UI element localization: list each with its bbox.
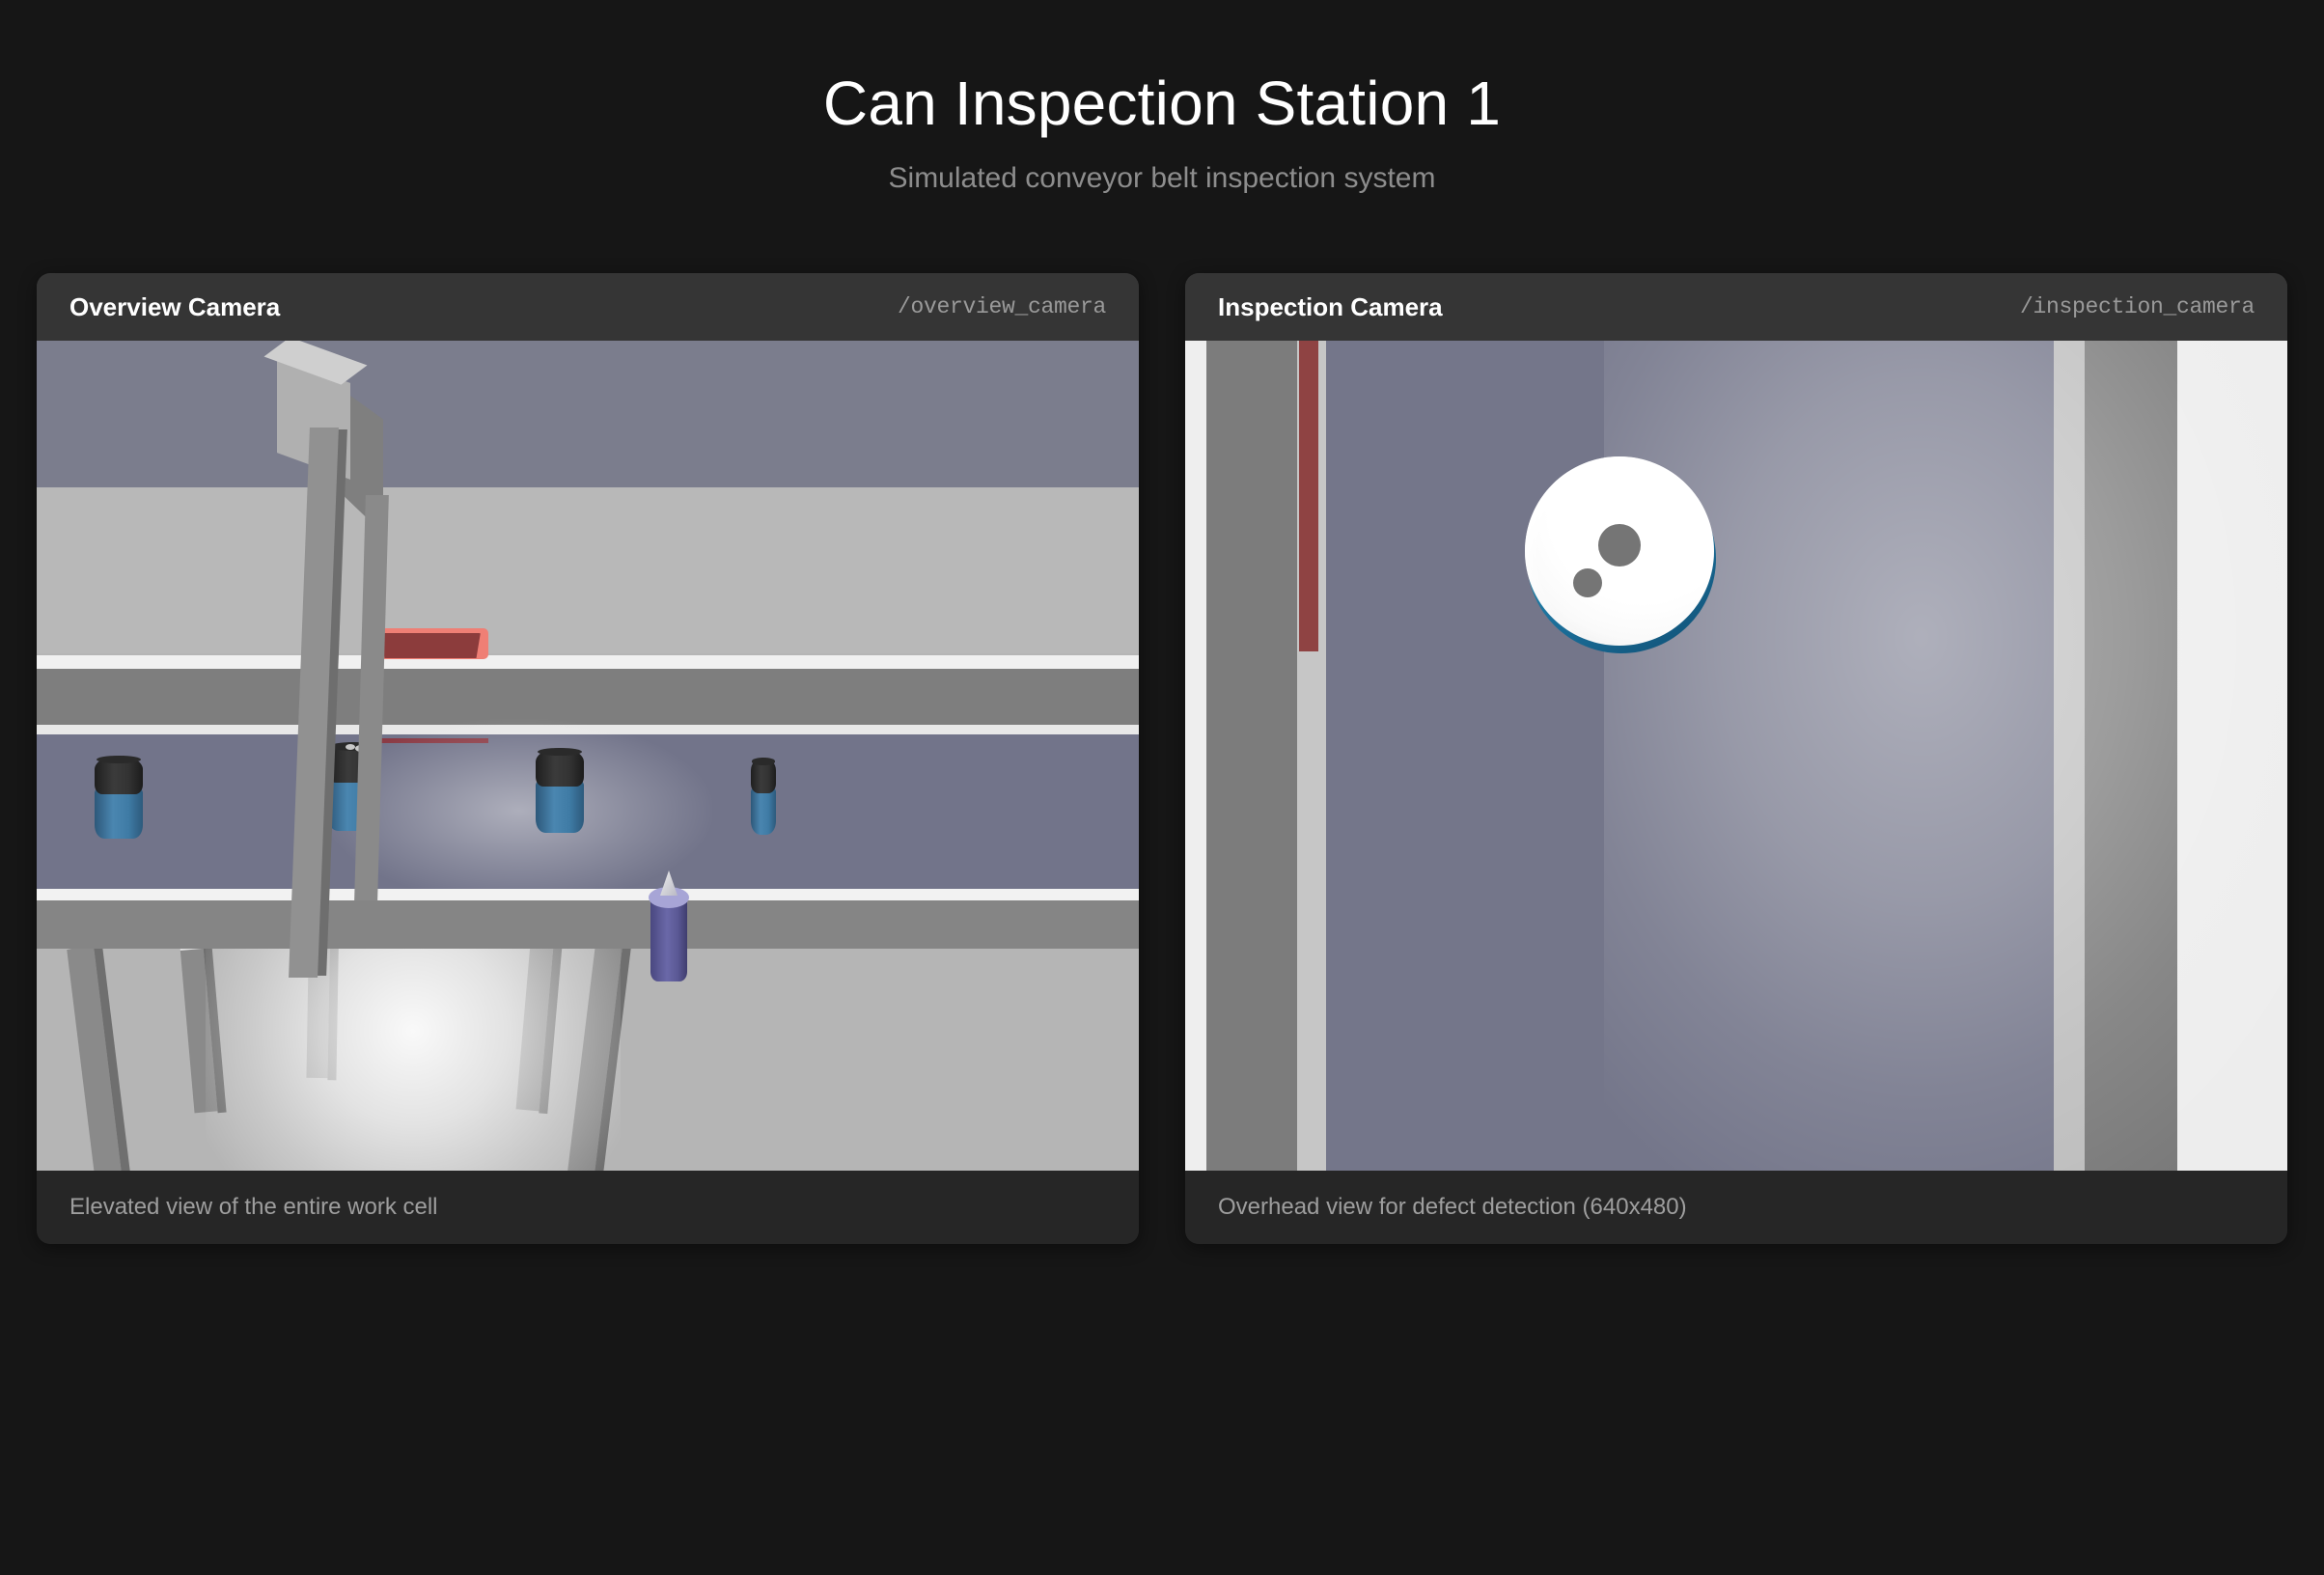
camera-caption-overview: Elevated view of the entire work cell xyxy=(69,1194,438,1221)
page-title: Can Inspection Station 1 xyxy=(0,69,2324,137)
spray-nozzle-body xyxy=(650,898,687,981)
conveyor-rail-far-highlight xyxy=(37,655,1139,669)
rejector-bar xyxy=(1299,341,1318,651)
page-header: Can Inspection Station 1 Simulated conve… xyxy=(0,0,2324,195)
app-root: Can Inspection Station 1 Simulated conve… xyxy=(0,0,2324,1575)
conveyor-rail-far-edge xyxy=(37,725,1139,734)
camera-caption-inspection: Overhead view for defect detection (640x… xyxy=(1218,1194,1687,1221)
inspection-band xyxy=(1206,341,1297,1171)
overview-scene xyxy=(37,341,1139,1171)
reject-guide-line xyxy=(374,738,488,743)
inspected-can xyxy=(1525,456,1718,649)
camera-topic-overview: /overview_camera xyxy=(898,294,1106,319)
conveyor-can xyxy=(536,748,584,833)
conveyor-can xyxy=(751,758,776,835)
inspection-band xyxy=(1185,341,1206,1171)
camera-card-header-overview: Overview Camera /overview_camera xyxy=(37,273,1139,341)
scene-back-wall xyxy=(37,341,1139,487)
camera-title-inspection: Inspection Camera xyxy=(1218,292,1443,322)
camera-viewport-overview[interactable] xyxy=(37,341,1139,1171)
inspection-scene xyxy=(1185,341,2287,1171)
inspection-band xyxy=(2054,341,2085,1171)
conveyor-rail-near-edge xyxy=(37,889,1139,900)
camera-card-header-inspection: Inspection Camera /inspection_camera xyxy=(1185,273,2287,341)
page-subtitle: Simulated conveyor belt inspection syste… xyxy=(0,162,2324,195)
camera-topic-inspection: /inspection_camera xyxy=(2020,294,2255,319)
inspection-band xyxy=(2177,341,2287,1171)
conveyor-rail-far xyxy=(37,669,1139,725)
camera-title-overview: Overview Camera xyxy=(69,292,280,322)
inspection-band xyxy=(2085,341,2177,1171)
camera-card-footer-overview: Elevated view of the entire work cell xyxy=(37,1171,1139,1244)
can-lid xyxy=(1525,456,1714,646)
camera-card-overview[interactable]: Overview Camera /overview_camera xyxy=(37,273,1139,1244)
scene-floor-far-band xyxy=(37,487,1139,653)
can-defect-spot xyxy=(1598,524,1641,566)
camera-card-inspection[interactable]: Inspection Camera /inspection_camera xyxy=(1185,273,2287,1244)
conveyor-can xyxy=(95,756,143,839)
camera-viewport-inspection[interactable] xyxy=(1185,341,2287,1171)
camera-grid: Overview Camera /overview_camera xyxy=(37,273,2287,1244)
can-defect-spot xyxy=(1573,568,1602,597)
can-defect-spot xyxy=(346,744,355,750)
reject-bin-interior xyxy=(378,633,483,658)
camera-card-footer-inspection: Overhead view for defect detection (640x… xyxy=(1185,1171,2287,1244)
conveyor-rail-near xyxy=(37,900,1139,949)
conveyor-belt-surface xyxy=(37,734,1139,889)
